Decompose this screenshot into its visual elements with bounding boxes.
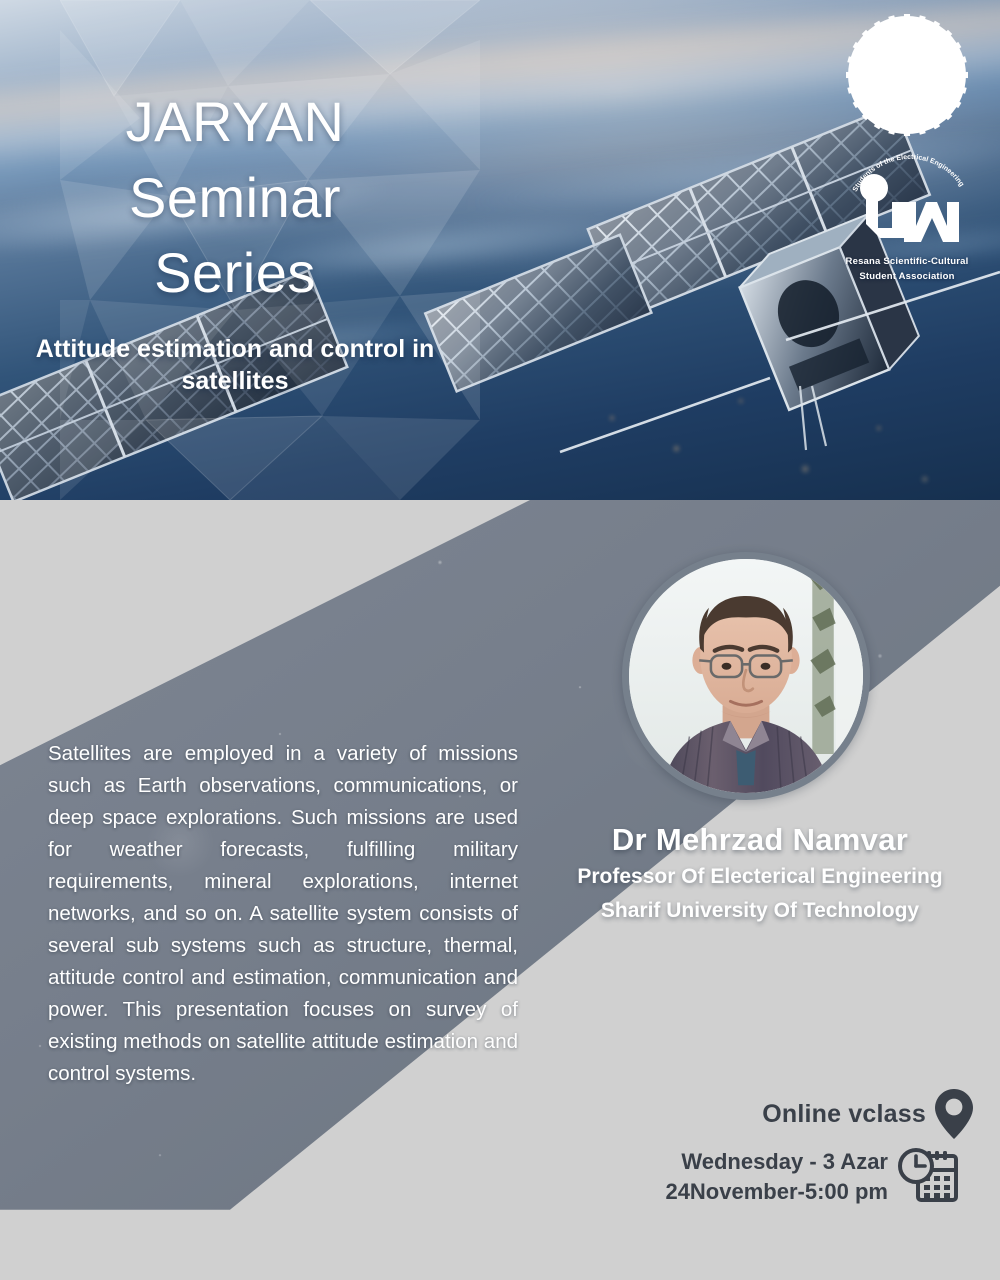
poster-title: JARYAN Seminar Series Attitude estimatio… xyxy=(0,84,470,398)
resana-association-logo-icon: Students of the Electrical Engineering xyxy=(832,146,982,254)
calendar-clock-icon xyxy=(898,1146,960,1208)
venue-label: Online vclass xyxy=(762,1100,926,1129)
logo-stack: Sharif University of Technology xyxy=(832,14,982,284)
hero-banner: JARYAN Seminar Series Attitude estimatio… xyxy=(0,0,1000,500)
venue-row: Online vclass xyxy=(762,1088,974,1140)
datetime-text: Wednesday - 3 Azar 24November-5:00 pm xyxy=(665,1147,888,1207)
date-line-1: Wednesday - 3 Azar xyxy=(665,1147,888,1177)
datetime-row: Wednesday - 3 Azar 24November-5:00 pm xyxy=(665,1146,960,1208)
resana-caption-line-1: Resana Scientific-Cultural xyxy=(832,255,982,269)
title-line-2: Seminar xyxy=(0,160,470,236)
sharif-university-logo-icon: Sharif University of Technology xyxy=(846,14,968,136)
location-pin-icon xyxy=(934,1088,974,1140)
poster-subtitle: Attitude estimation and control in satel… xyxy=(0,333,470,398)
title-line-3: Series xyxy=(0,235,470,311)
seminar-poster: JARYAN Seminar Series Attitude estimatio… xyxy=(0,0,1000,1280)
resana-caption-line-2: Student Association xyxy=(832,270,982,284)
title-line-1: JARYAN xyxy=(0,84,470,160)
date-line-2: 24November-5:00 pm xyxy=(665,1177,888,1207)
lower-section: Satellites are employed in a variety of … xyxy=(0,500,1000,1280)
event-details: Online vclass Wednesday - 3 Azar 24Novem… xyxy=(0,500,1000,1280)
